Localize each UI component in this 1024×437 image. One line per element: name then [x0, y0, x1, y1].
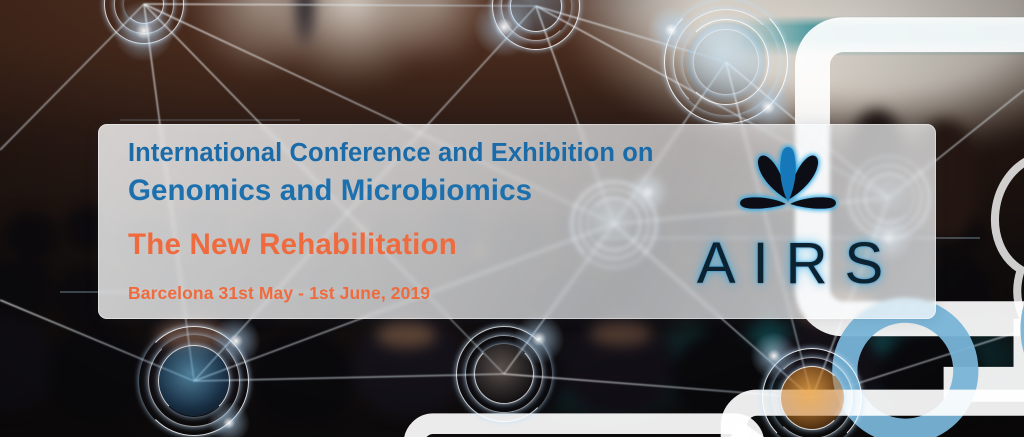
devices-icon[interactable] [139, 326, 249, 436]
airs-trident-flower-mark [728, 140, 848, 232]
content-panel: International Conference and Exhibition … [98, 124, 936, 319]
conference-banner: International Conference and Exhibition … [0, 0, 1024, 437]
airs-logo[interactable]: AIRS [660, 140, 920, 308]
airs-wordmark: AIRS [660, 230, 920, 297]
brain-icon[interactable] [664, 0, 788, 124]
ring-node-icon[interactable] [104, 0, 184, 44]
monitor-icon[interactable] [492, 0, 580, 50]
cloud-download-icon[interactable] [762, 348, 862, 437]
mail-icon[interactable] [456, 326, 552, 422]
